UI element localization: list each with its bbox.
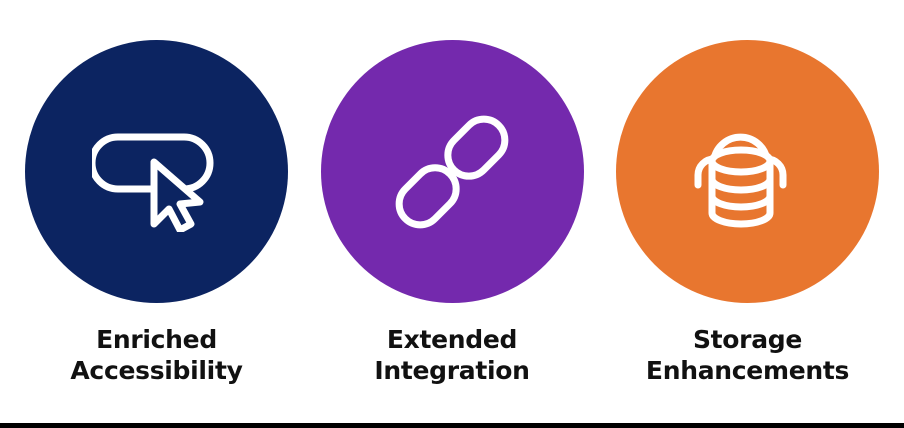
feature-card-label-accessibility: Enriched Accessibility — [14, 325, 299, 386]
feature-card-row: Enriched Accessibility Extended Integrat… — [0, 0, 904, 410]
icon-circle-integration — [321, 40, 584, 303]
icon-circle-storage — [616, 40, 879, 303]
feature-card-accessibility[interactable]: Enriched Accessibility — [14, 0, 299, 386]
cloud-database-icon — [686, 113, 810, 231]
cursor-click-button-icon — [92, 112, 222, 232]
feature-card-integration[interactable]: Extended Integration — [310, 0, 595, 386]
bottom-accent-bar — [0, 423, 904, 428]
feature-highlights-slide: Enriched Accessibility Extended Integrat… — [0, 0, 904, 428]
chain-link-icon — [390, 110, 514, 234]
icon-circle-accessibility — [25, 40, 288, 303]
feature-card-label-integration: Extended Integration — [310, 325, 595, 386]
feature-card-storage[interactable]: Storage Enhancements — [605, 0, 890, 386]
feature-card-label-storage: Storage Enhancements — [605, 325, 890, 386]
